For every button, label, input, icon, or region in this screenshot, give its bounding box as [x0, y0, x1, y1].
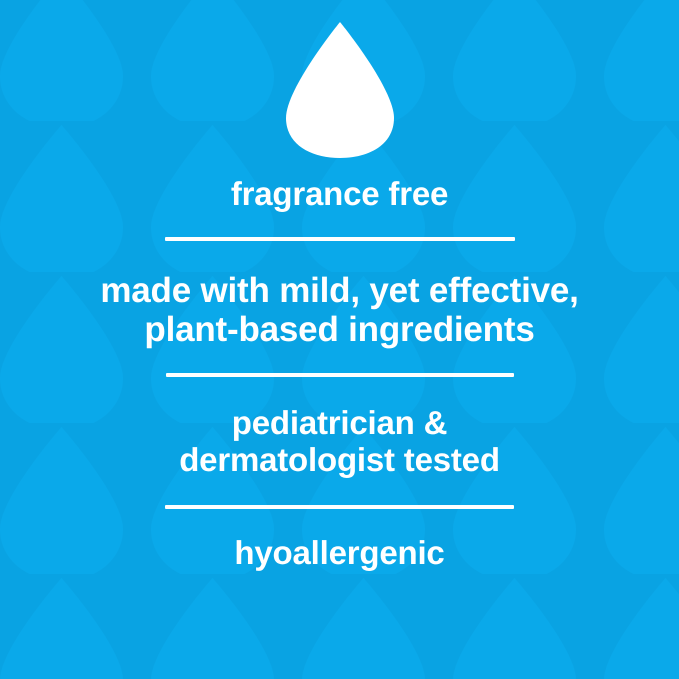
- claim-plant-based: made with mild, yet effective, plant-bas…: [100, 271, 578, 349]
- divider-2: [166, 373, 514, 377]
- claim-fragrance-free: fragrance free: [231, 176, 448, 213]
- divider-3: [165, 505, 514, 509]
- divider-1: [165, 237, 515, 241]
- water-droplet-icon: [284, 20, 396, 160]
- claims-content: fragrance free made with mild, yet effec…: [0, 0, 679, 679]
- claim-hyoallergenic: hyoallergenic: [234, 535, 444, 572]
- claim-pediatrician-tested: pediatrician & dermatologist tested: [179, 405, 500, 479]
- product-claims-panel: fragrance free made with mild, yet effec…: [0, 0, 679, 679]
